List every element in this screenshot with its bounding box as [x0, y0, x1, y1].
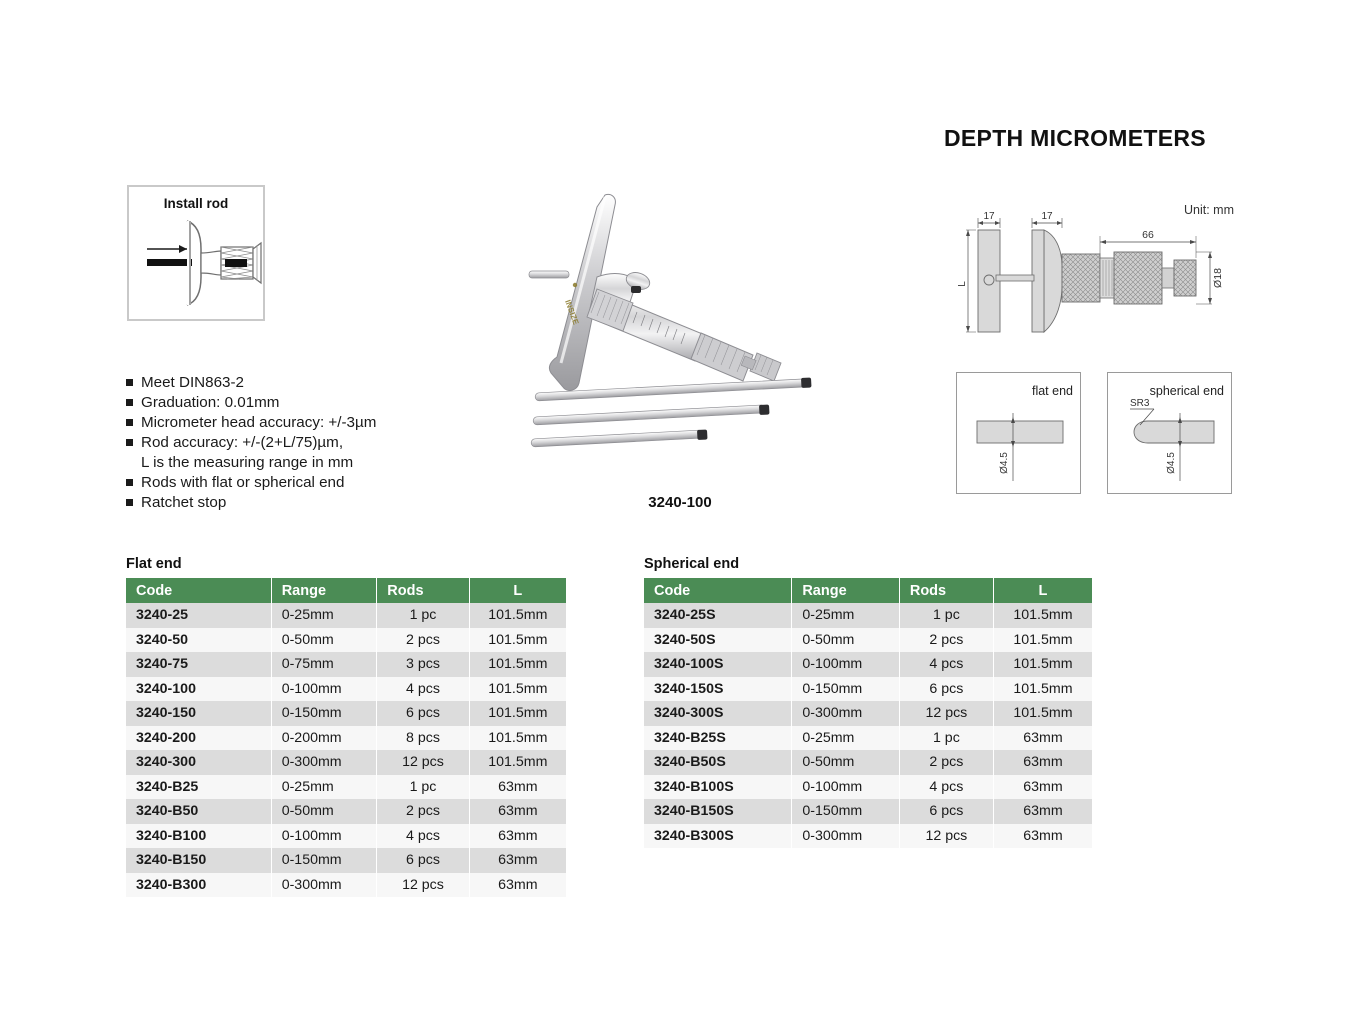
table-row: 3240-1000-100mm4 pcs101.5mm [126, 677, 566, 702]
table-row: 3240-B25S0-25mm1 pc63mm [644, 726, 1092, 751]
cell-range: 0-50mm [792, 750, 900, 775]
column-header-l: L [993, 578, 1092, 603]
cell-code: 3240-B25S [644, 726, 792, 751]
cell-range: 0-25mm [792, 603, 900, 628]
cell-range: 0-50mm [792, 628, 900, 653]
cell-rods: 4 pcs [377, 677, 469, 702]
table-row: 3240-3000-300mm12 pcs101.5mm [126, 750, 566, 775]
feature-item: Rods with flat or spherical end [126, 473, 546, 493]
table-row: 3240-500-50mm2 pcs101.5mm [126, 628, 566, 653]
cell-range: 0-25mm [792, 726, 900, 751]
cell-rods: 4 pcs [377, 824, 469, 849]
feature-item: Ratchet stop [126, 493, 546, 513]
table-row: 3240-750-75mm3 pcs101.5mm [126, 652, 566, 677]
flat-end-table: Code Range Rods L 3240-250-25mm1 pc101.5… [126, 578, 566, 897]
cell-rods: 8 pcs [377, 726, 469, 751]
flat-end-diameter-label: Ø4.5 [999, 452, 1010, 474]
table-row: 3240-B250-25mm1 pc63mm [126, 775, 566, 800]
cell-l: 63mm [469, 775, 566, 800]
cell-code: 3240-50 [126, 628, 271, 653]
cell-range: 0-150mm [271, 701, 377, 726]
table-row: 3240-1500-150mm6 pcs101.5mm [126, 701, 566, 726]
cell-range: 0-75mm [271, 652, 377, 677]
install-rod-illustration: Install rod [127, 185, 265, 321]
cell-code: 3240-300S [644, 701, 792, 726]
cell-l: 101.5mm [469, 652, 566, 677]
cell-range: 0-50mm [271, 799, 377, 824]
page-title: DEPTH MICROMETERS [944, 125, 1206, 152]
product-code-caption: 3240-100 [505, 494, 855, 511]
feature-item: Meet DIN863-2 [126, 373, 546, 393]
cell-rods: 4 pcs [899, 652, 993, 677]
table-row: 3240-B3000-300mm12 pcs63mm [126, 873, 566, 898]
flat-end-table-caption: Flat end [126, 556, 566, 572]
cell-code: 3240-B100 [126, 824, 271, 849]
cell-range: 0-200mm [271, 726, 377, 751]
cell-rods: 6 pcs [899, 677, 993, 702]
cell-range: 0-150mm [271, 848, 377, 873]
cell-range: 0-100mm [271, 824, 377, 849]
cell-l: 63mm [993, 824, 1092, 849]
cell-l: 101.5mm [993, 628, 1092, 653]
cell-rods: 2 pcs [899, 628, 993, 653]
table-row: 3240-2000-200mm8 pcs101.5mm [126, 726, 566, 751]
bullet-square-icon [126, 399, 133, 406]
cell-code: 3240-100S [644, 652, 792, 677]
spherical-end-title: spherical end [1150, 384, 1224, 398]
cell-range: 0-100mm [271, 677, 377, 702]
table-row: 3240-B1000-100mm4 pcs63mm [126, 824, 566, 849]
cell-code: 3240-150 [126, 701, 271, 726]
cell-rods: 12 pcs [377, 750, 469, 775]
table-row: 3240-B50S0-50mm2 pcs63mm [644, 750, 1092, 775]
feature-item: Rod accuracy: +/-(2+L/75)µm, [126, 433, 546, 453]
cell-l: 101.5mm [993, 603, 1092, 628]
feature-text: Meet DIN863-2 [141, 373, 244, 393]
cell-l: 101.5mm [469, 603, 566, 628]
cell-rods: 2 pcs [899, 750, 993, 775]
cell-code: 3240-B50 [126, 799, 271, 824]
cell-l: 63mm [993, 799, 1092, 824]
cell-code: 3240-25 [126, 603, 271, 628]
cell-l: 101.5mm [469, 677, 566, 702]
dim-diameter-18-label: Ø18 [1212, 268, 1224, 288]
column-header-rods: Rods [377, 578, 469, 603]
cell-code: 3240-100 [126, 677, 271, 702]
cell-rods: 2 pcs [377, 799, 469, 824]
feature-item: Micrometer head accuracy: +/-3µm [126, 413, 546, 433]
cell-l: 101.5mm [993, 677, 1092, 702]
bullet-square-icon [126, 439, 133, 446]
cell-code: 3240-B25 [126, 775, 271, 800]
cell-rods: 2 pcs [377, 628, 469, 653]
cell-range: 0-300mm [271, 750, 377, 775]
feature-text: Ratchet stop [141, 493, 226, 513]
table-row: 3240-B300S0-300mm12 pcs63mm [644, 824, 1092, 849]
cell-range: 0-25mm [271, 603, 377, 628]
cell-l: 101.5mm [993, 701, 1092, 726]
cell-range: 0-25mm [271, 775, 377, 800]
install-rod-diagram-icon [129, 209, 267, 319]
product-photo: INSIZE [505, 185, 855, 460]
spherical-radius-label: SR3 [1130, 398, 1150, 409]
feature-text: Micrometer head accuracy: +/-3µm [141, 413, 376, 433]
dim-17-side-label: 17 [983, 211, 995, 222]
table-row: 3240-B100S0-100mm4 pcs63mm [644, 775, 1092, 800]
cell-code: 3240-300 [126, 750, 271, 775]
cell-rods: 6 pcs [899, 799, 993, 824]
cell-l: 63mm [993, 775, 1092, 800]
cell-l: 63mm [469, 824, 566, 849]
table-row: 3240-300S0-300mm12 pcs101.5mm [644, 701, 1092, 726]
table-row: 3240-B500-50mm2 pcs63mm [126, 799, 566, 824]
table-header-row: Code Range Rods L [126, 578, 566, 603]
bullet-square-icon [126, 499, 133, 506]
dim-66-label: 66 [1142, 229, 1154, 241]
cell-code: 3240-200 [126, 726, 271, 751]
cell-code: 3240-B100S [644, 775, 792, 800]
feature-text: Rods with flat or spherical end [141, 473, 344, 493]
cell-rods: 12 pcs [377, 873, 469, 898]
cell-range: 0-150mm [792, 799, 900, 824]
column-header-range: Range [271, 578, 377, 603]
cell-code: 3240-25S [644, 603, 792, 628]
feature-text: Rod accuracy: +/-(2+L/75)µm, [141, 433, 343, 453]
table-row: 3240-50S0-50mm2 pcs101.5mm [644, 628, 1092, 653]
unit-note: Unit: mm [1184, 203, 1234, 217]
cell-l: 63mm [993, 750, 1092, 775]
table-row: 3240-150S0-150mm6 pcs101.5mm [644, 677, 1092, 702]
cell-code: 3240-B300 [126, 873, 271, 898]
table-row: 3240-25S0-25mm1 pc101.5mm [644, 603, 1092, 628]
cell-l: 101.5mm [469, 726, 566, 751]
column-header-code: Code [126, 578, 271, 603]
spherical-end-table-caption: Spherical end [644, 556, 1092, 572]
column-header-l: L [469, 578, 566, 603]
cell-rods: 12 pcs [899, 701, 993, 726]
cell-rods: 1 pc [899, 726, 993, 751]
cell-code: 3240-B50S [644, 750, 792, 775]
cell-rods: 6 pcs [377, 701, 469, 726]
cell-l: 63mm [469, 873, 566, 898]
cell-l: 101.5mm [469, 628, 566, 653]
bullet-square-icon [126, 379, 133, 386]
cell-l: 63mm [469, 848, 566, 873]
table-row: 3240-100S0-100mm4 pcs101.5mm [644, 652, 1092, 677]
cell-code: 3240-75 [126, 652, 271, 677]
dim-L-label: L [957, 281, 968, 287]
dim-17-front-label: 17 [1041, 211, 1053, 222]
cell-rods: 12 pcs [899, 824, 993, 849]
table-row: 3240-B1500-150mm6 pcs63mm [126, 848, 566, 873]
feature-continuation-text: L is the measuring range in mm [126, 453, 546, 473]
spherical-end-table: Code Range Rods L 3240-25S0-25mm1 pc101.… [644, 578, 1092, 848]
spherical-end-diameter-label: Ø4.5 [1166, 452, 1177, 474]
feature-item: Graduation: 0.01mm [126, 393, 546, 413]
cell-l: 63mm [469, 799, 566, 824]
cell-code: 3240-150S [644, 677, 792, 702]
cell-code: 3240-B150S [644, 799, 792, 824]
table-row: 3240-250-25mm1 pc101.5mm [126, 603, 566, 628]
flat-end-detail-box: flat end Ø4.5 [956, 372, 1081, 494]
cell-code: 3240-50S [644, 628, 792, 653]
table-header-row: Code Range Rods L [644, 578, 1092, 603]
cell-l: 101.5mm [993, 652, 1092, 677]
cell-l: 101.5mm [469, 701, 566, 726]
flat-end-title: flat end [1032, 384, 1073, 398]
spherical-end-detail-box: spherical end SR3 Ø4.5 [1107, 372, 1232, 494]
cell-code: 3240-B150 [126, 848, 271, 873]
cell-range: 0-300mm [792, 824, 900, 849]
bullet-square-icon [126, 419, 133, 426]
feature-list: Meet DIN863-2 Graduation: 0.01mm Microme… [126, 373, 546, 513]
cell-rods: 1 pc [377, 775, 469, 800]
cell-l: 63mm [993, 726, 1092, 751]
cell-rods: 4 pcs [899, 775, 993, 800]
column-header-range: Range [792, 578, 900, 603]
spherical-end-table-block: Spherical end Code Range Rods L 3240-25S… [644, 556, 1092, 848]
cell-rods: 3 pcs [377, 652, 469, 677]
cell-l: 101.5mm [469, 750, 566, 775]
cell-range: 0-100mm [792, 652, 900, 677]
cell-range: 0-100mm [792, 775, 900, 800]
flat-end-table-block: Flat end Code Range Rods L 3240-250-25mm… [126, 556, 566, 897]
cell-range: 0-50mm [271, 628, 377, 653]
bullet-square-icon [126, 479, 133, 486]
cell-range: 0-300mm [792, 701, 900, 726]
cell-rods: 6 pcs [377, 848, 469, 873]
column-header-rods: Rods [899, 578, 993, 603]
cell-code: 3240-B300S [644, 824, 792, 849]
cell-rods: 1 pc [377, 603, 469, 628]
cell-range: 0-150mm [792, 677, 900, 702]
table-row: 3240-B150S0-150mm6 pcs63mm [644, 799, 1092, 824]
cell-rods: 1 pc [899, 603, 993, 628]
column-header-code: Code [644, 578, 792, 603]
feature-text: Graduation: 0.01mm [141, 393, 279, 413]
cell-range: 0-300mm [271, 873, 377, 898]
